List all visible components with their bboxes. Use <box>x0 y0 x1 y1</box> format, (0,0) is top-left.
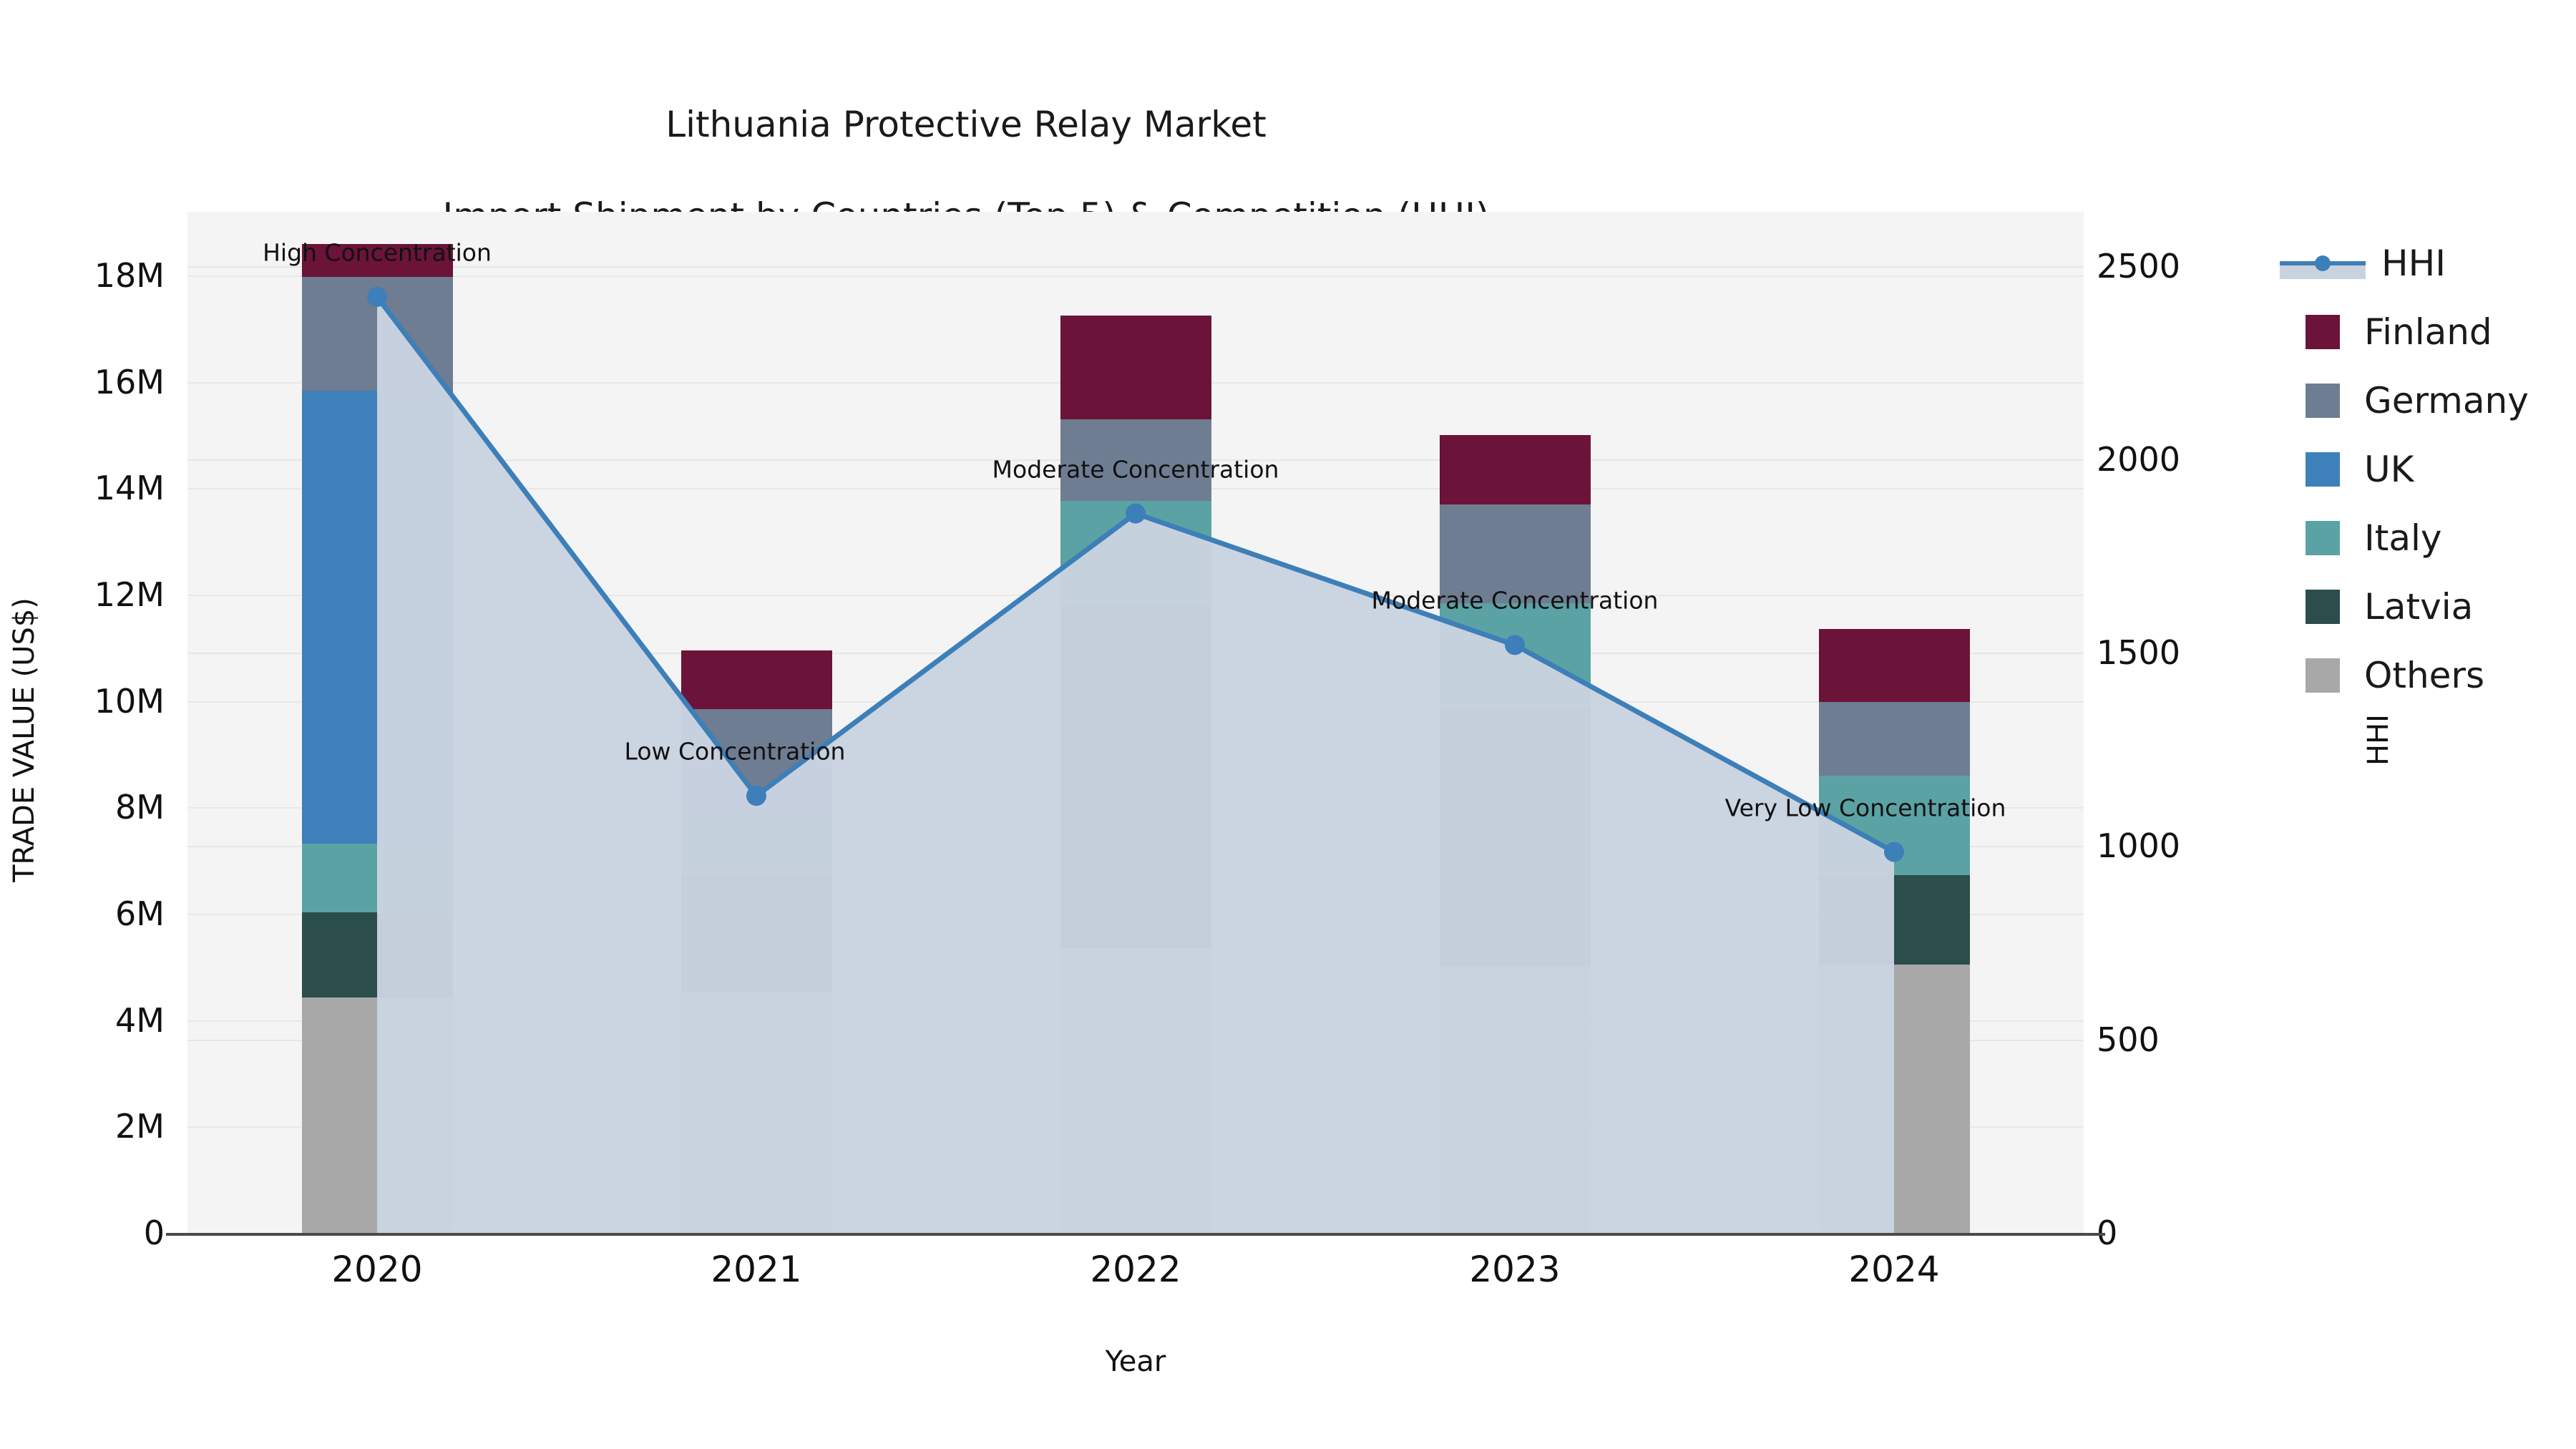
x-axis-label: Year <box>1106 1345 1166 1378</box>
legend-line-marker <box>2280 246 2366 280</box>
legend-item-uk[interactable]: UK <box>2254 435 2569 504</box>
legend-swatch-latvia <box>2306 590 2340 624</box>
legend-label: Others <box>2364 655 2484 696</box>
legend-label: Finland <box>2364 311 2492 353</box>
y-tick-label-left: 4M <box>115 1001 165 1040</box>
y-tick-label-right: 1000 <box>2097 826 2180 865</box>
y-tick-label-left: 16M <box>94 363 165 401</box>
y-tick-label-right: 2000 <box>2097 440 2180 479</box>
legend-label: HHI <box>2381 243 2446 284</box>
legend-swatch-italy <box>2306 521 2340 555</box>
legend-item-italy[interactable]: Italy <box>2254 504 2569 572</box>
y-axis-right-label: HHI <box>2361 723 2396 757</box>
hhi-marker-2020[interactable] <box>367 287 387 307</box>
legend-label: Italy <box>2364 517 2441 559</box>
chart-legend: HHIFinlandGermanyUKItalyLatviaOthers <box>2254 229 2569 710</box>
annotation-2024: Very Low Concentration <box>1725 794 2006 821</box>
y-axis-right-ticks: 05001000150020002500 <box>2097 0 2326 1449</box>
legend-line-dot <box>2315 255 2331 271</box>
legend-label: UK <box>2364 449 2414 490</box>
x-tick-label-2021: 2021 <box>711 1249 801 1290</box>
legend-item-hhi[interactable]: HHI <box>2254 229 2569 298</box>
y-axis-left-label: TRADE VALUE (US$) <box>7 723 42 757</box>
legend-swatch-uk <box>2306 452 2340 487</box>
hhi-marker-2021[interactable] <box>746 786 766 806</box>
hhi-marker-2023[interactable] <box>1505 635 1525 655</box>
y-tick-label-left: 2M <box>115 1107 165 1146</box>
y-tick-label-left: 6M <box>115 894 165 933</box>
annotation-2022: Moderate Concentration <box>992 455 1279 483</box>
x-axis-line <box>166 1233 2105 1236</box>
y-tick-label-left: 8M <box>115 788 165 826</box>
annotation-2021: Low Concentration <box>625 738 846 766</box>
legend-swatch-finland <box>2306 315 2340 349</box>
plot-area <box>187 212 2084 1233</box>
legend-label: Germany <box>2364 380 2529 421</box>
x-tick-label-2023: 2023 <box>1469 1249 1560 1290</box>
y-tick-label-left: 0 <box>144 1214 165 1252</box>
annotation-2020: High Concentration <box>263 238 492 266</box>
x-tick-label-2024: 2024 <box>1848 1249 1939 1290</box>
legend-item-others[interactable]: Others <box>2254 641 2569 710</box>
legend-item-germany[interactable]: Germany <box>2254 366 2569 435</box>
legend-label: Latvia <box>2364 586 2473 628</box>
y-tick-label-left: 14M <box>94 469 165 507</box>
y-tick-label-left: 10M <box>94 682 165 721</box>
legend-swatch-others <box>2306 658 2340 693</box>
legend-item-finland[interactable]: Finland <box>2254 298 2569 366</box>
hhi-marker-2024[interactable] <box>1884 842 1904 862</box>
hhi-marker-2022[interactable] <box>1126 504 1146 524</box>
y-tick-label-right: 1500 <box>2097 633 2180 672</box>
x-tick-label-2022: 2022 <box>1090 1249 1181 1290</box>
chart-root: Lithuania Protective Relay Market Import… <box>0 0 2576 1449</box>
y-tick-label-right: 500 <box>2097 1020 2160 1059</box>
annotation-2023: Moderate Concentration <box>1372 587 1659 615</box>
y-tick-label-left: 18M <box>94 256 165 295</box>
chart-title-line-1: Lithuania Protective Relay Market <box>0 102 1932 147</box>
y-tick-label-right: 2500 <box>2097 247 2180 286</box>
legend-swatch-germany <box>2306 384 2340 418</box>
legend-item-latvia[interactable]: Latvia <box>2254 572 2569 641</box>
hhi-area-overlay <box>377 297 1894 1233</box>
hhi-line-layer <box>187 212 2084 1233</box>
y-tick-label-left: 12M <box>94 575 165 614</box>
x-tick-label-2020: 2020 <box>331 1249 422 1290</box>
